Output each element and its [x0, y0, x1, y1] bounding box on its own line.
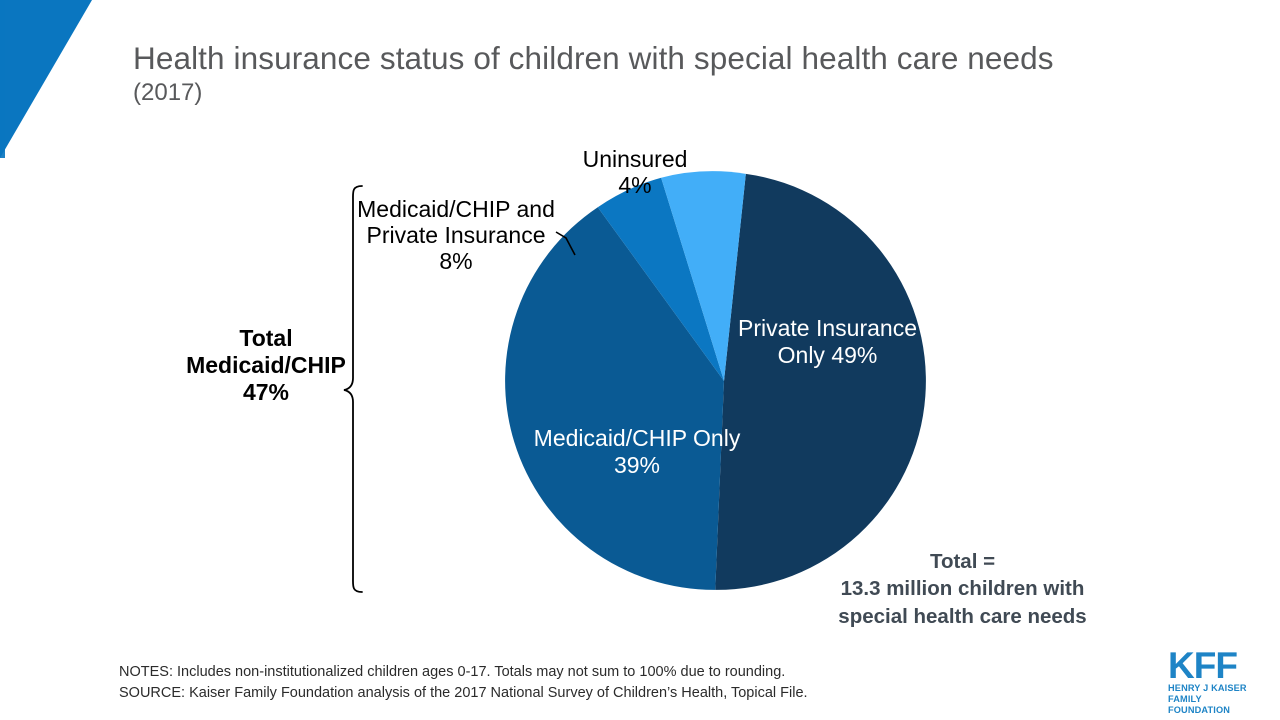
- callout-uninsured: Uninsured 4%: [540, 146, 730, 198]
- pie-slice-private-insurance-only[interactable]: [715, 174, 926, 590]
- kff-logo-line2: FAMILY FOUNDATION: [1168, 694, 1264, 716]
- total-population-note: Total = 13.3 million children with speci…: [790, 548, 1135, 630]
- slice-label-medicaid-chip-only: Medicaid/CHIP Only 39%: [512, 425, 762, 478]
- callout-uninsured-name: Uninsured: [540, 146, 730, 172]
- footnotes: NOTES: Includes non-institutionalized ch…: [119, 662, 1119, 703]
- footnote-notes: NOTES: Includes non-institutionalized ch…: [119, 662, 1119, 683]
- slice-label-medicaid-chip-only-name: Medicaid/CHIP Only: [512, 425, 762, 452]
- kff-logo-line1: HENRY J KAISER: [1168, 683, 1264, 694]
- footnote-source: SOURCE: Kaiser Family Foundation analysi…: [119, 683, 1119, 704]
- kff-wordmark: KFF: [1168, 648, 1264, 683]
- kff-logo: KFF HENRY J KAISER FAMILY FOUNDATION: [1168, 648, 1264, 706]
- callout-medicaid-and-private-value: 8%: [336, 248, 576, 274]
- total-medicaid-chip-label: Total Medicaid/CHIP 47%: [150, 325, 382, 406]
- callout-uninsured-value: 4%: [540, 172, 730, 198]
- pie-chart: Uninsured 4% Medicaid/CHIP and Private I…: [0, 0, 1280, 720]
- slice-label-private-insurance-only: Private Insurance Only 49%: [715, 315, 940, 368]
- slice-label-medicaid-chip-only-value: 39%: [512, 452, 762, 479]
- callout-medicaid-and-private-name: Medicaid/CHIP and Private Insurance: [336, 196, 576, 248]
- callout-medicaid-and-private: Medicaid/CHIP and Private Insurance 8%: [336, 196, 576, 274]
